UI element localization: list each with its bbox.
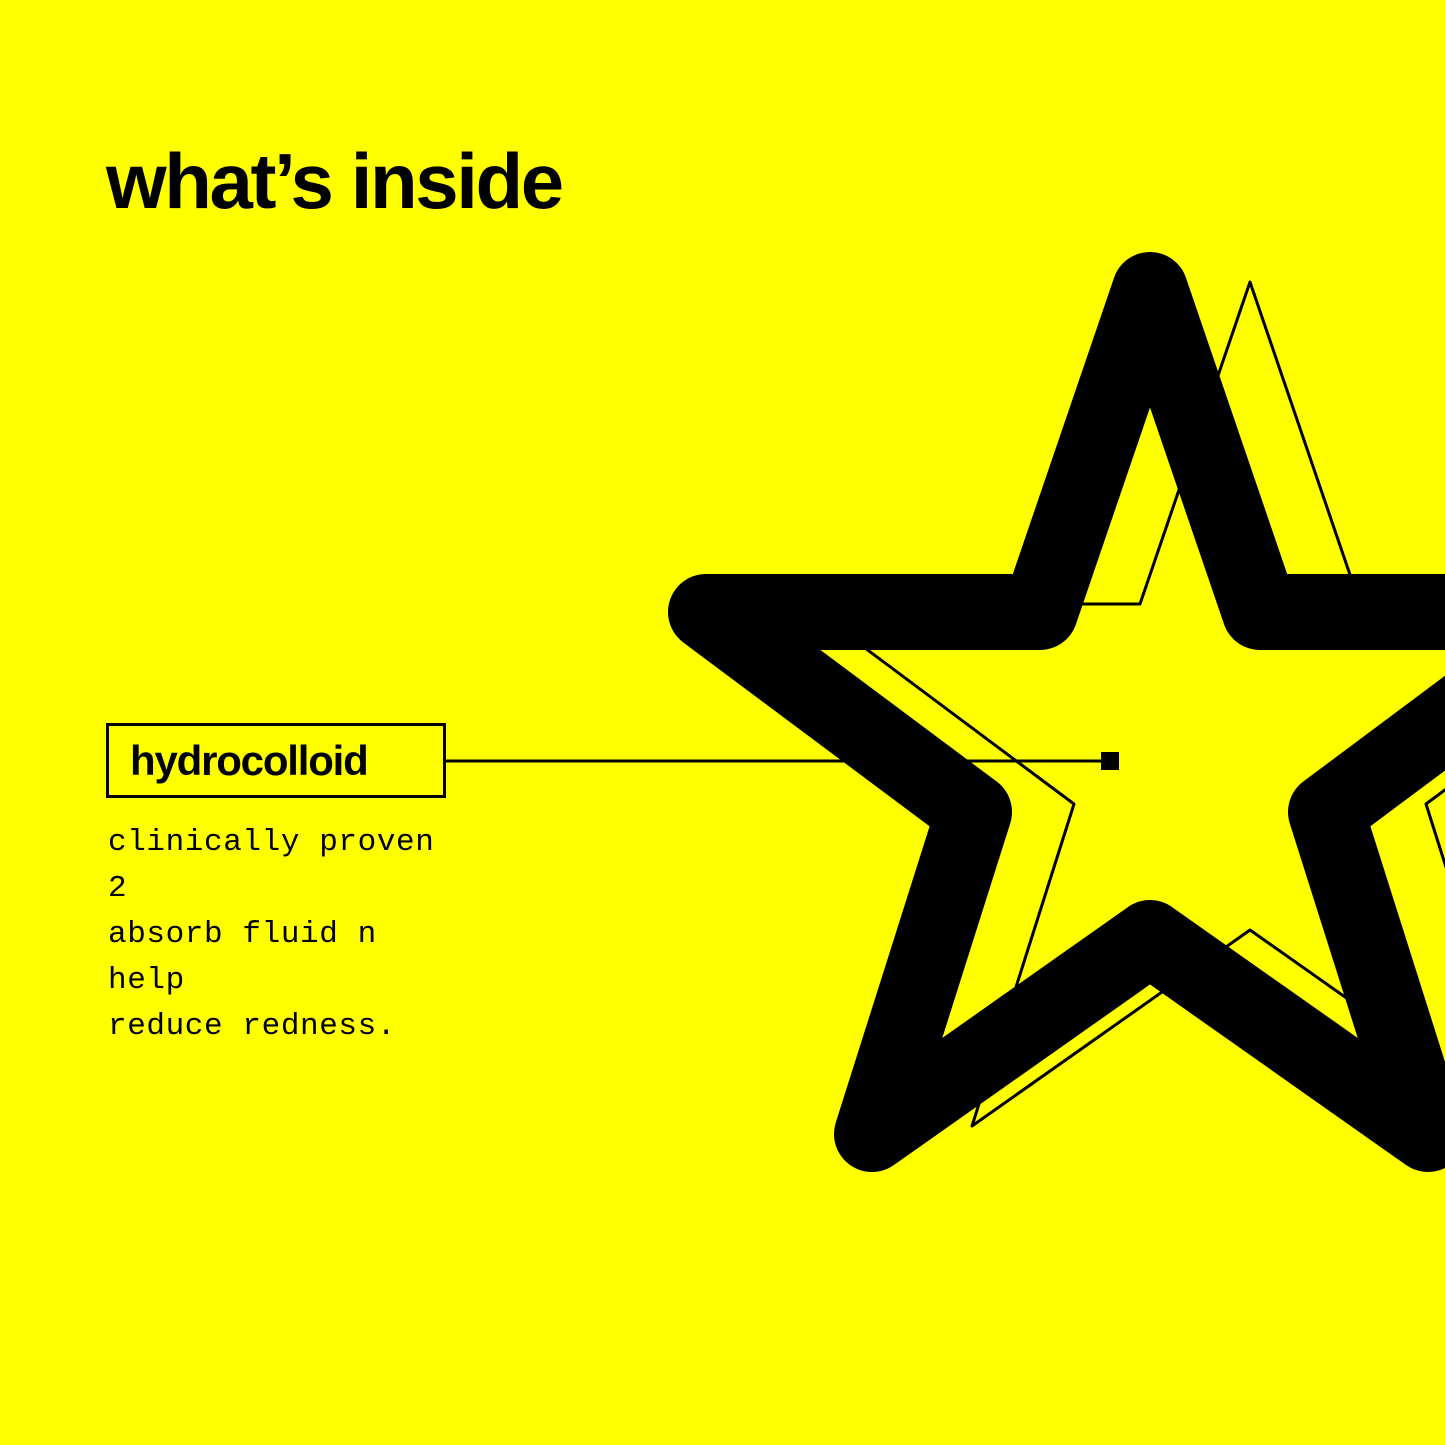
callout-description: clinically proven 2 absorb fluid n help …: [108, 820, 446, 1050]
leader-endpoint-marker: [1101, 752, 1119, 770]
callout-block: hydrocolloid clinically proven 2 absorb …: [106, 723, 446, 1050]
callout-label-text: hydrocolloid: [109, 737, 368, 785]
callout-label-box[interactable]: hydrocolloid: [106, 723, 446, 798]
poster-canvas: what’s inside hydrocolloid clinically pr…: [0, 0, 1445, 1445]
